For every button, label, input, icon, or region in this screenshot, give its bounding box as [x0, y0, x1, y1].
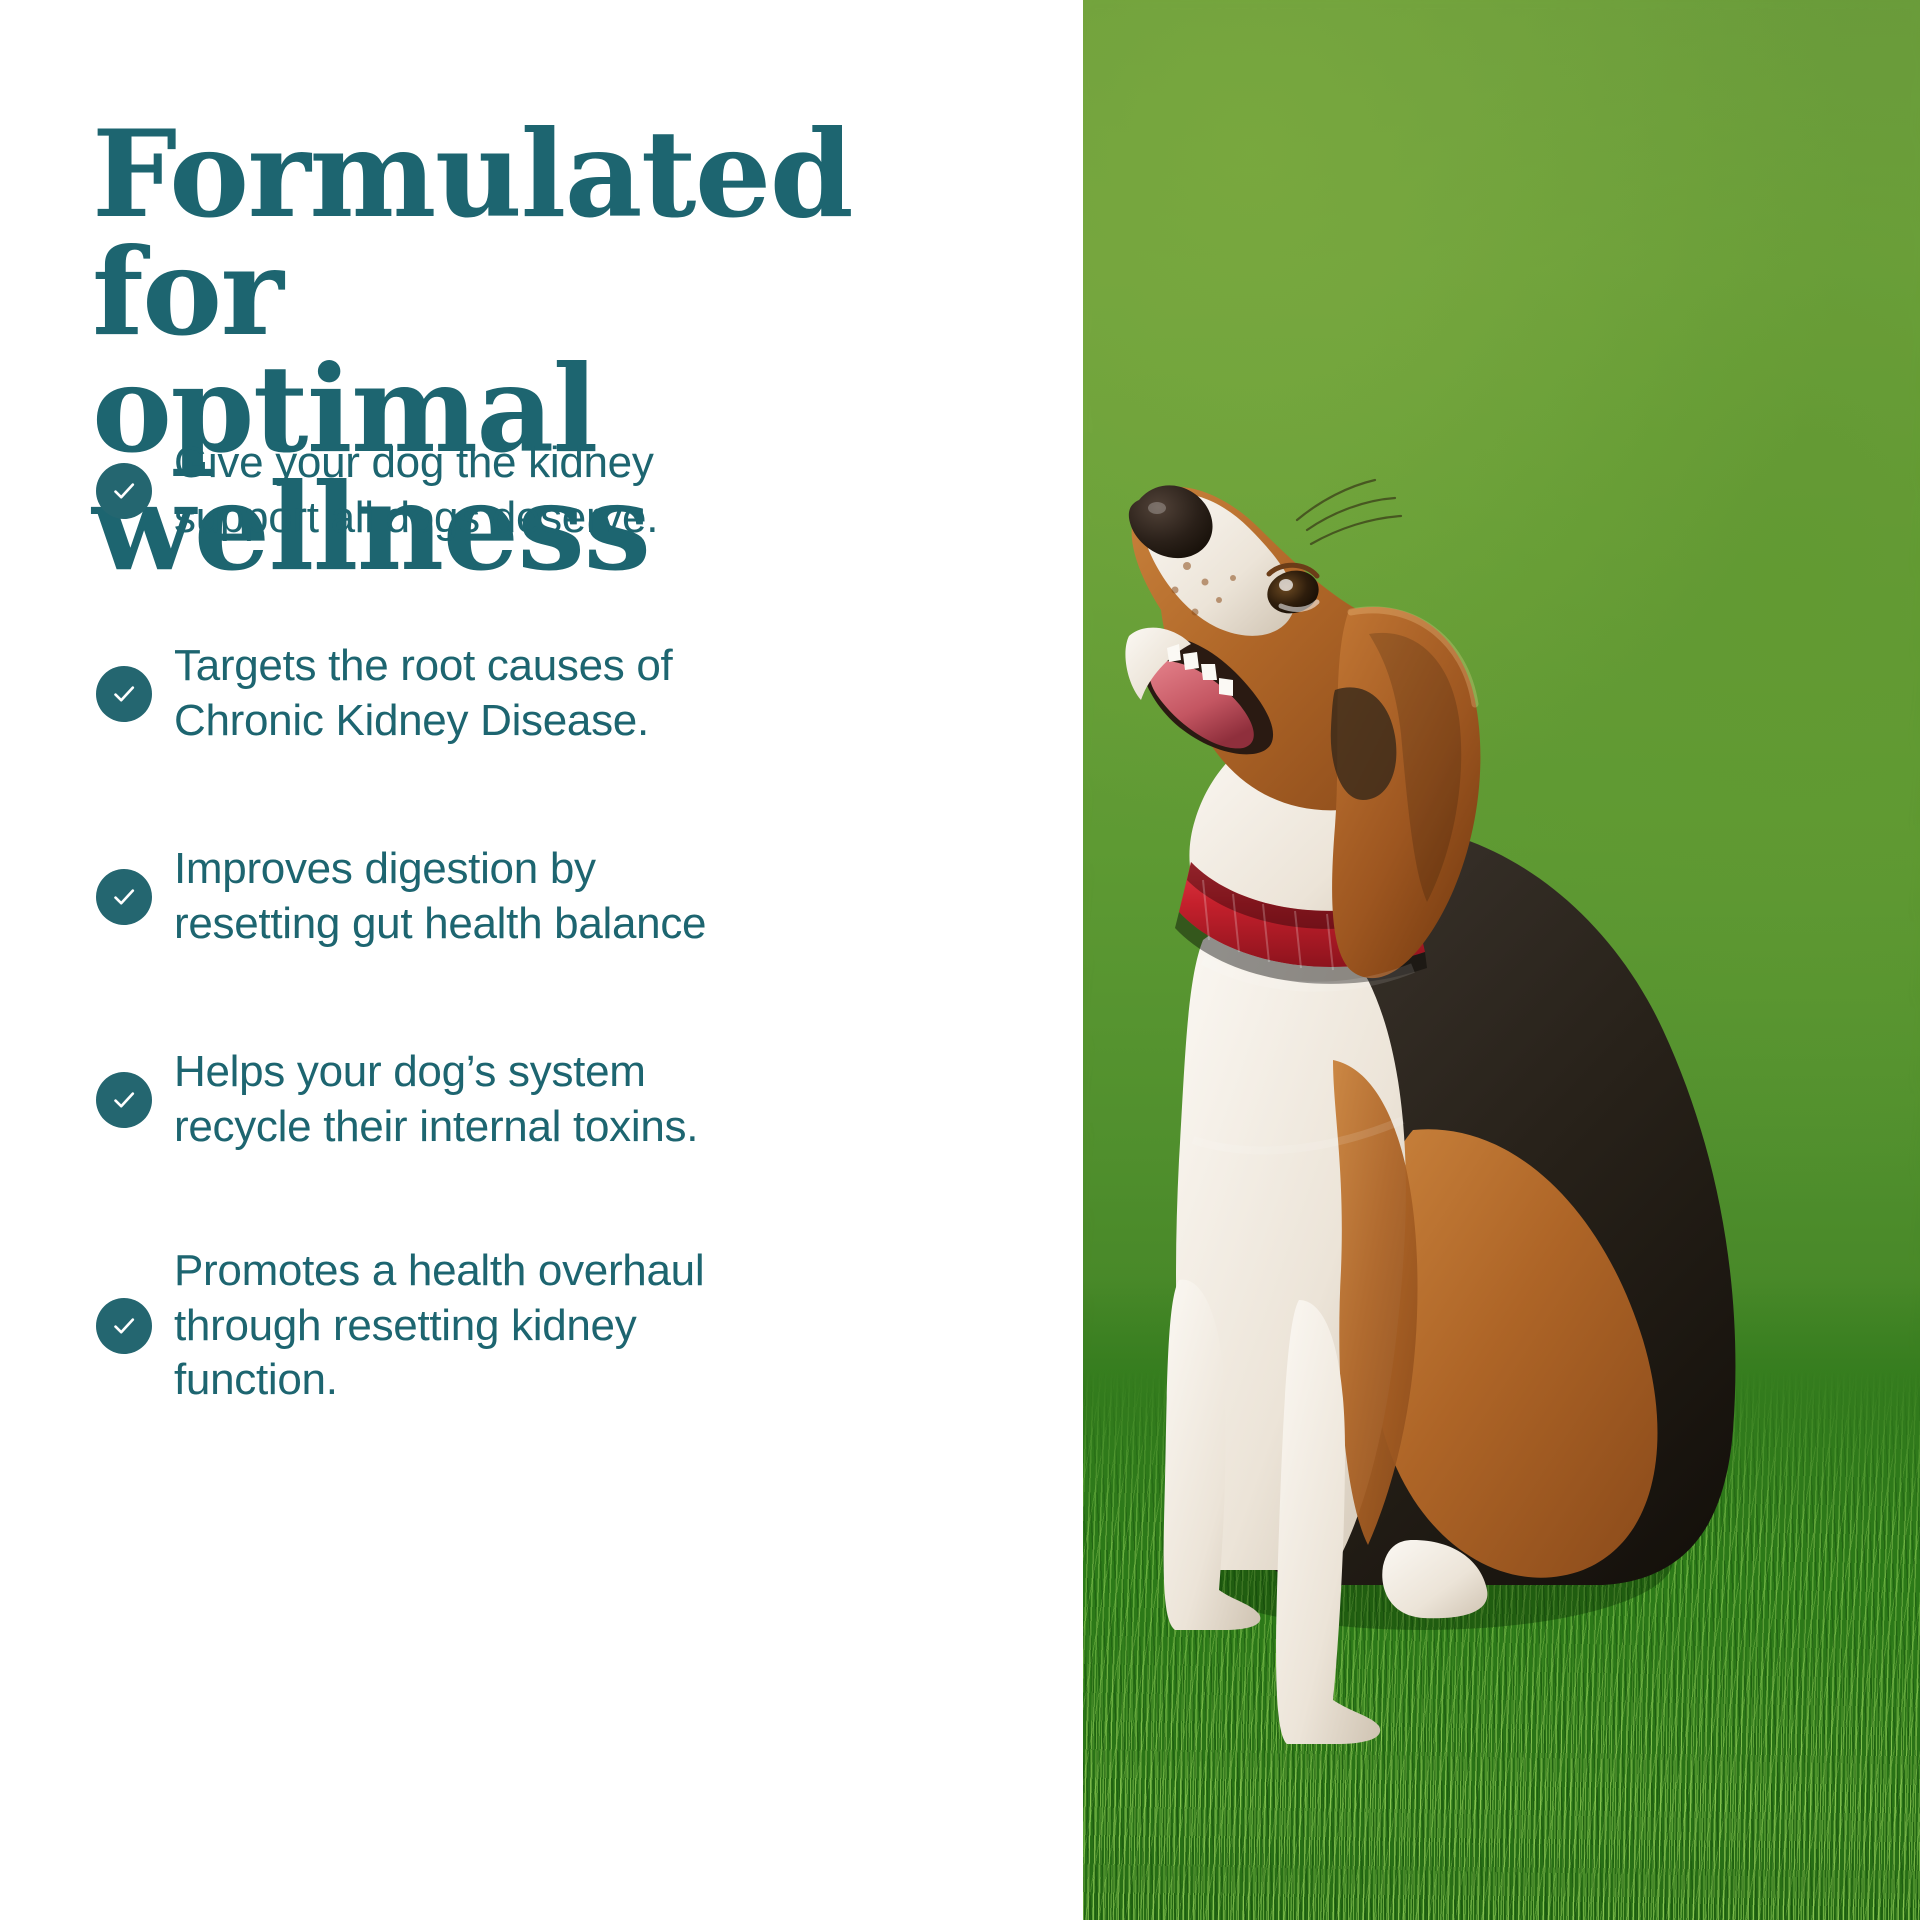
list-item: Improves digestion by resetting gut heal…: [0, 838, 1000, 956]
check-circle-icon: [96, 463, 152, 519]
benefit-text: Promotes a health overhaul through reset…: [174, 1244, 704, 1408]
beagle-dog-illustration: [1083, 0, 1920, 1920]
dog-photo: [1083, 0, 1920, 1920]
check-circle-icon: [96, 1072, 152, 1128]
check-circle-icon: [96, 1298, 152, 1354]
benefit-text: Give your dog the kidney support all dog…: [174, 436, 658, 545]
check-circle-icon: [96, 666, 152, 722]
promo-card: Formulated for optimal wellness Give you…: [0, 0, 1920, 1920]
list-item: Targets the root causes of Chronic Kidne…: [0, 635, 1000, 753]
list-item: Helps your dog’s system recycle their in…: [0, 1041, 1000, 1159]
list-item: Promotes a health overhaul through reset…: [0, 1244, 1000, 1408]
benefit-text: Targets the root causes of Chronic Kidne…: [174, 639, 672, 748]
list-item: Give your dog the kidney support all dog…: [0, 432, 1000, 550]
check-circle-icon: [96, 869, 152, 925]
copy-panel: Formulated for optimal wellness Give you…: [0, 0, 1083, 1920]
benefit-text: Helps your dog’s system recycle their in…: [174, 1045, 698, 1154]
benefit-text: Improves digestion by resetting gut heal…: [174, 842, 706, 951]
benefit-list: Give your dog the kidney support all dog…: [0, 432, 1000, 1408]
